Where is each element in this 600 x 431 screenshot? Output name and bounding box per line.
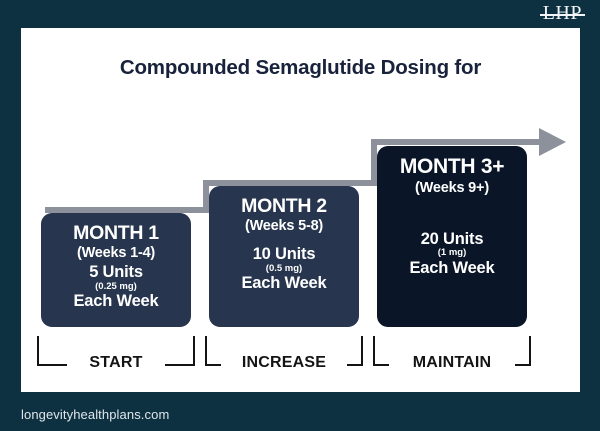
month-frequency: Each Week [377, 259, 527, 278]
brand-logo-text: LHP [543, 2, 582, 24]
month-frequency: Each Week [41, 292, 191, 311]
brand-logo-strike [540, 14, 585, 16]
page-title: Compounded Semaglutide Dosing for [21, 56, 580, 80]
content-card: Compounded Semaglutide Dosing for MONTH … [21, 28, 580, 392]
month-weeks: (Weeks 1-4) [41, 245, 191, 261]
phase-bracket-start: START [37, 336, 195, 374]
phase-label: MAINTAIN [373, 354, 531, 372]
month-dose: (1 mg) [377, 248, 527, 258]
arrowhead-icon [539, 128, 566, 156]
footer-website-url[interactable]: longevityhealthplans.com [21, 407, 169, 422]
month-weeks: (Weeks 5-8) [209, 218, 359, 234]
month-card-1[interactable]: MONTH 1 (Weeks 1-4) 5 Units (0.25 mg) Ea… [41, 213, 191, 327]
infographic-root: LHP Compounded Semaglutide Dosing for MO… [0, 0, 600, 431]
phase-bracket-maintain: MAINTAIN [373, 336, 531, 374]
month-frequency: Each Week [209, 274, 359, 293]
month-units: 20 Units [377, 230, 527, 248]
phase-bracket-increase: INCREASE [205, 336, 363, 374]
brand-logo: LHP [543, 3, 582, 23]
month-card-3[interactable]: MONTH 3+ (Weeks 9+) 20 Units (1 mg) Each… [377, 146, 527, 327]
month-card-2[interactable]: MONTH 2 (Weeks 5-8) 10 Units (0.5 mg) Ea… [209, 186, 359, 327]
phase-label: INCREASE [205, 354, 363, 372]
month-spacer [377, 196, 527, 230]
month-units: 5 Units [41, 263, 191, 281]
month-dose: (0.25 mg) [41, 282, 191, 292]
month-dose: (0.5 mg) [209, 264, 359, 274]
month-spacer [209, 234, 359, 245]
month-title: MONTH 2 [209, 195, 359, 217]
phase-label: START [37, 354, 195, 372]
month-title: MONTH 1 [41, 222, 191, 244]
month-weeks: (Weeks 9+) [377, 180, 527, 196]
month-units: 10 Units [209, 245, 359, 263]
month-title: MONTH 3+ [377, 155, 527, 179]
